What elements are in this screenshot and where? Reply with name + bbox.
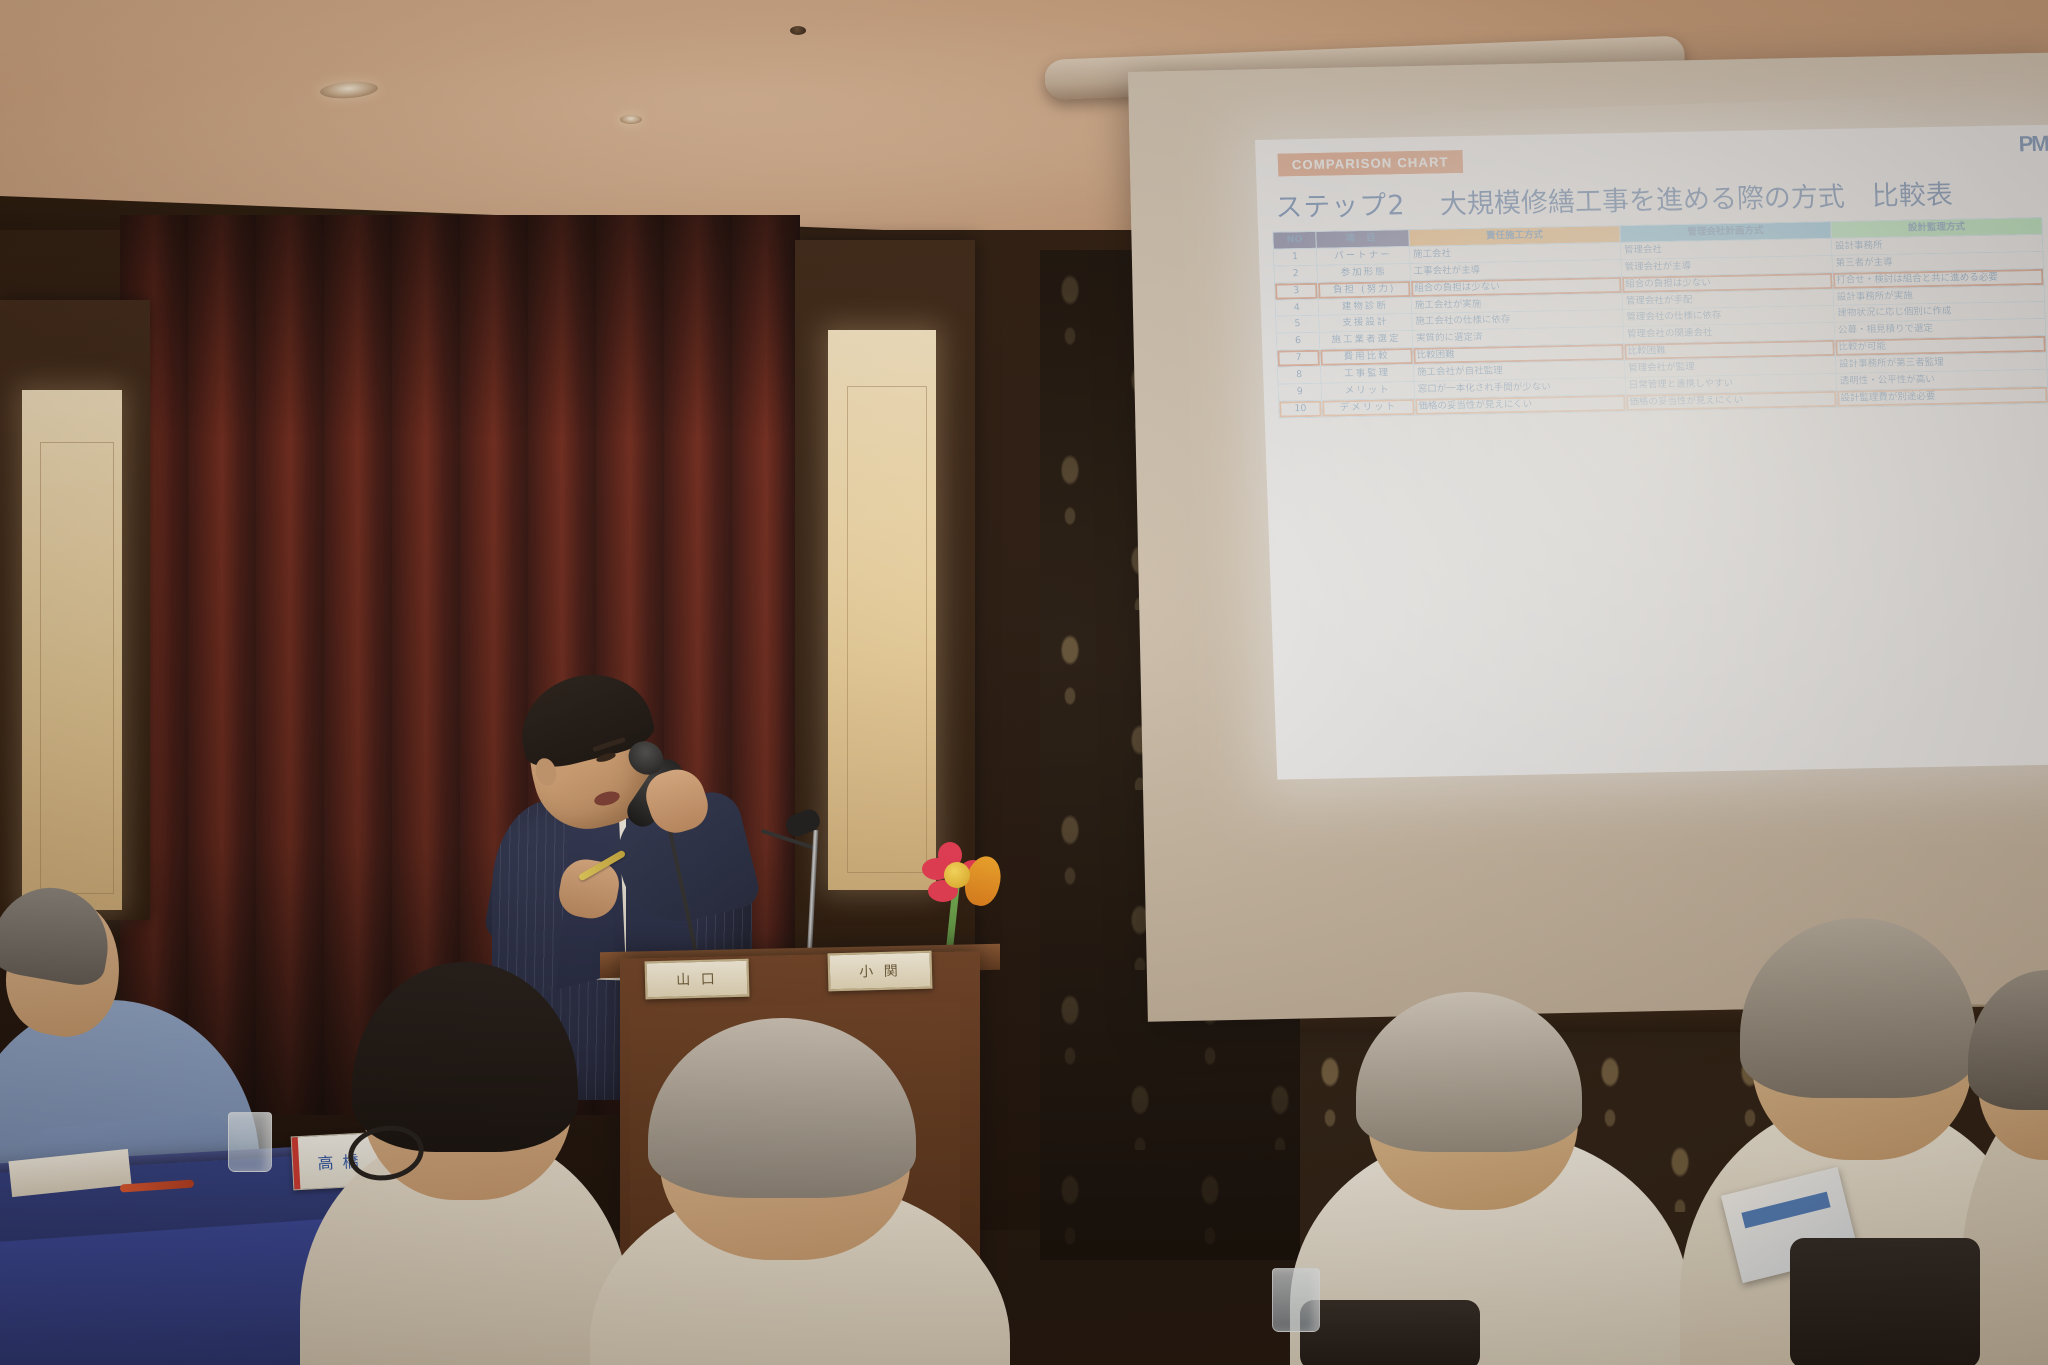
slide-title-main: 大規模修繕工事を進める際の方式 比較表 bbox=[1439, 180, 1953, 221]
cell-no: 6 bbox=[1276, 333, 1320, 351]
cell-item: 負担 (努力) bbox=[1317, 280, 1411, 299]
cell-no: 4 bbox=[1275, 299, 1319, 317]
podium-nameplate-right-text: 小 関 bbox=[859, 960, 901, 981]
cell-method-c: 設計監理費が別途必要 bbox=[1837, 386, 2048, 407]
comparison-chart-badge: COMPARISON CHART bbox=[1277, 150, 1463, 177]
water-glass bbox=[1272, 1268, 1320, 1332]
cell-no: 10 bbox=[1279, 400, 1323, 418]
projected-slide: PM COMPARISON CHART ステップ2 大規模修繕工事を進める際の方… bbox=[1255, 125, 2048, 780]
ceiling-spotlight bbox=[620, 115, 642, 124]
cell-no: 9 bbox=[1278, 383, 1322, 401]
cell-method-a: 価格の妥当性が見えにくい bbox=[1415, 394, 1627, 415]
wall-light-panel-right bbox=[828, 330, 936, 890]
cell-item: メリット bbox=[1321, 381, 1415, 400]
namecard-accent-bar bbox=[292, 1137, 301, 1189]
cell-method-b: 価格の妥当性が見えにくい bbox=[1626, 390, 1838, 411]
cell-item: 費用比較 bbox=[1320, 348, 1414, 367]
podium-nameplate-left: 山 口 bbox=[645, 959, 750, 1000]
sprinkler-head bbox=[790, 26, 806, 35]
cell-no: 1 bbox=[1273, 248, 1317, 266]
cell-item: デメリット bbox=[1322, 398, 1416, 417]
cell-item: 支援設計 bbox=[1319, 314, 1413, 333]
cell-no: 2 bbox=[1274, 265, 1318, 283]
cell-item: 施工業者選定 bbox=[1319, 331, 1413, 350]
cell-no: 5 bbox=[1276, 316, 1320, 334]
cell-no: 8 bbox=[1277, 366, 1321, 384]
chair-back bbox=[1790, 1238, 1980, 1365]
cell-item: 建物診断 bbox=[1318, 297, 1412, 316]
podium-nameplate-left-text: 山 口 bbox=[676, 968, 718, 989]
header-item: 項 目 bbox=[1316, 230, 1410, 249]
slide-corner-logo: PM bbox=[2018, 131, 2048, 158]
cell-item: パートナー bbox=[1316, 246, 1410, 265]
cell-item: 参加形態 bbox=[1317, 263, 1411, 282]
cell-no: 7 bbox=[1277, 349, 1321, 367]
cell-no: 3 bbox=[1274, 282, 1318, 300]
chair-back bbox=[1300, 1300, 1480, 1365]
header-no: NO bbox=[1273, 231, 1317, 249]
cell-item: 工事監理 bbox=[1320, 364, 1414, 383]
slide-title-step: ステップ2 bbox=[1275, 190, 1406, 223]
comparison-table: NO 項 目 責任施工方式 管理会社計画方式 設計監理方式 1パートナー施工会社… bbox=[1272, 217, 2048, 418]
water-glass bbox=[228, 1112, 272, 1172]
comparison-table-body: 1パートナー施工会社管理会社設計事務所2参加形態工事会社が主導管理会社が主導第三… bbox=[1273, 234, 2048, 417]
flower-center bbox=[944, 862, 970, 888]
wall-light-panel-left bbox=[22, 390, 122, 910]
podium-nameplate-right: 小 関 bbox=[828, 951, 933, 992]
slide-title: ステップ2 大規模修繕工事を進める際の方式 比較表 bbox=[1275, 171, 2048, 225]
seminar-room-photo: PM COMPARISON CHART ステップ2 大規模修繕工事を進める際の方… bbox=[0, 0, 2048, 1365]
